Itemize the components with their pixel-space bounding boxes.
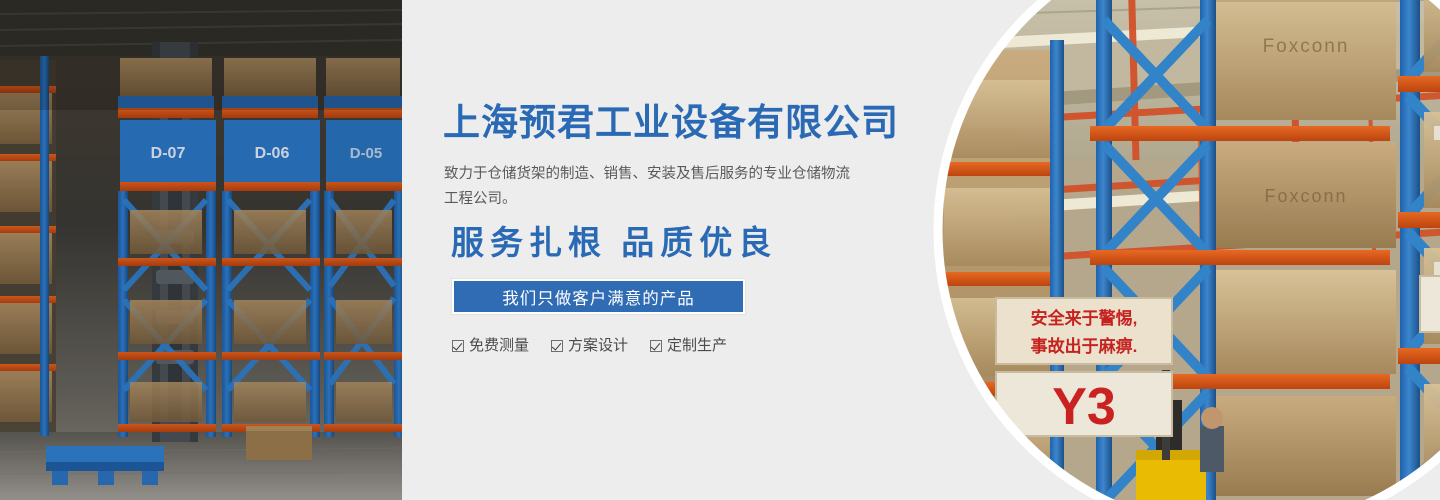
- checkbox-check-icon: [551, 340, 563, 352]
- checkbox-check-icon: [452, 340, 464, 352]
- subtitle-text: 致力于仓储货架的制造、销售、安装及售后服务的专业仓储物流工程公司。: [444, 162, 862, 212]
- feature-label: 方案设计: [568, 338, 628, 353]
- feature-list: 免费测量 方案设计 定制生产: [452, 338, 749, 353]
- banner-content: 上海预君工业设备有限公司 致力于仓储货架的制造、销售、安装及售后服务的专业仓储物…: [443, 0, 913, 500]
- left-warehouse-photo: D-07: [0, 0, 402, 500]
- feature-label: 定制生产: [667, 338, 727, 353]
- left-photo-art: D-07: [0, 0, 402, 500]
- hero-banner: D-07: [0, 0, 1440, 500]
- right-photo-art: Foxconn Foxconn: [900, 0, 1440, 500]
- slogan-text: 服务扎根 品质优良: [451, 226, 777, 264]
- right-warehouse-photo: Foxconn Foxconn: [900, 0, 1440, 500]
- checkbox-check-icon: [650, 340, 662, 352]
- feature-item-0: 免费测量: [452, 338, 529, 353]
- cta-button[interactable]: 我们只做客户满意的产品: [452, 279, 745, 314]
- feature-item-1: 方案设计: [551, 338, 628, 353]
- feature-item-2: 定制生产: [650, 338, 727, 353]
- page-title: 上海预君工业设备有限公司: [443, 104, 899, 141]
- feature-label: 免费测量: [469, 338, 529, 353]
